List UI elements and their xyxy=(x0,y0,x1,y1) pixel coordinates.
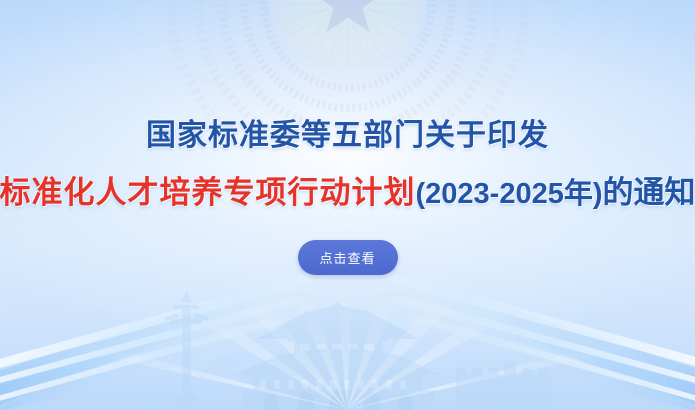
click-to-view-button[interactable]: 点击查看 xyxy=(298,240,398,275)
notice-banner: 国家标准委等五部门关于印发 标准化人才培养专项行动计划(2023-2025年)的… xyxy=(0,0,695,410)
banner-title-line-1: 国家标准委等五部门关于印发 xyxy=(146,121,549,151)
banner-title-years: (2023-2025年) xyxy=(416,178,603,210)
banner-content: 国家标准委等五部门关于印发 标准化人才培养专项行动计划(2023-2025年)的… xyxy=(0,0,695,410)
banner-title-line-2: 标准化人才培养专项行动计划(2023-2025年)的通知 xyxy=(0,177,695,209)
banner-title-tail: 的通知 xyxy=(603,175,695,210)
banner-title-highlight: 标准化人才培养专项行动计划 xyxy=(0,175,416,210)
